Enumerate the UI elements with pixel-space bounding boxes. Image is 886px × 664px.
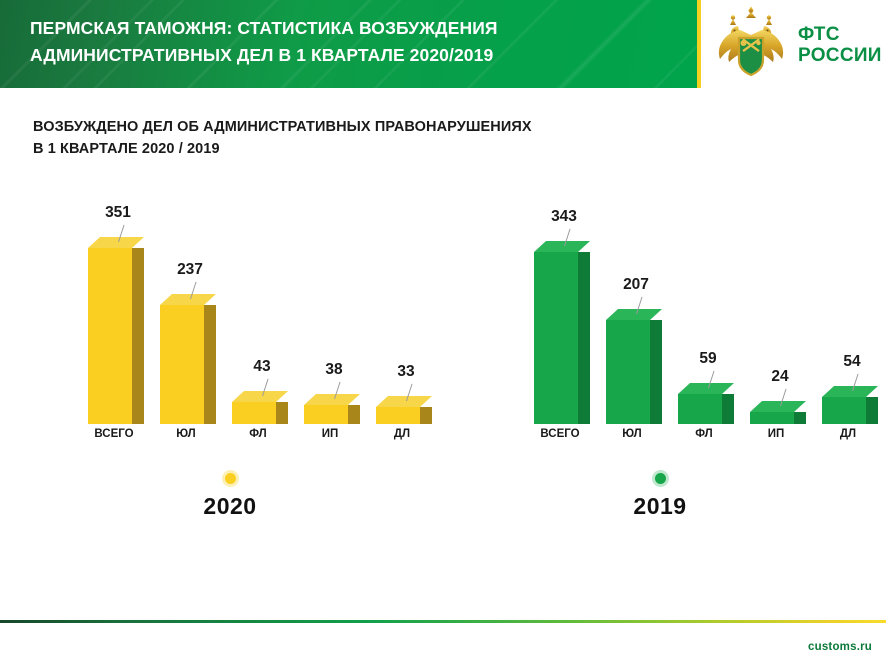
category-label-дл: ДЛ [394, 428, 410, 440]
bar-front-face [750, 412, 794, 424]
bar-front-face [304, 405, 348, 424]
category-label-ип: ИП [768, 428, 785, 440]
legend-dot-2020-icon [222, 470, 239, 487]
bar-front-face [376, 407, 420, 424]
category-label-ип: ИП [322, 428, 339, 440]
bar-top-face [160, 294, 216, 305]
plot-area-2020: 351237433833 [60, 212, 420, 424]
bar-side-face [794, 412, 806, 424]
bar-side-face [722, 394, 734, 424]
bar-value-label: 207 [623, 276, 649, 294]
bar-top-face [88, 237, 144, 248]
footer-site-link[interactable]: customs.ru [808, 641, 872, 653]
bar-side-face [578, 252, 590, 424]
page-header: ПЕРМСКАЯ ТАМОЖНЯ: СТАТИСТИКА ВОЗБУЖДЕНИЯ… [0, 0, 886, 88]
legend-dot-2019-icon [652, 470, 669, 487]
bar-side-face [348, 405, 360, 424]
bar-top-face [678, 383, 734, 394]
bar-side-face [866, 397, 878, 424]
legend-year-2019: 2019 [570, 493, 750, 520]
bar-side-face [276, 402, 288, 424]
bar-всего [88, 248, 132, 424]
bar-top-face [376, 396, 432, 407]
double-headed-eagle-icon [712, 6, 790, 84]
bar-chart-2020: 351237433833 ВСЕГОЮЛФЛИПДЛ [60, 196, 420, 446]
logo-text-line2: РОССИИ [798, 45, 882, 66]
bar-top-face [606, 309, 662, 320]
bar-value-label: 59 [699, 350, 716, 368]
bar-юл [160, 305, 204, 424]
bar-top-face [534, 241, 590, 252]
bar-всего [534, 252, 578, 424]
bar-ип [304, 405, 348, 424]
category-label-юл: ЮЛ [176, 428, 196, 440]
series-legend-2020: 2020 [140, 470, 320, 520]
page-title: ПЕРМСКАЯ ТАМОЖНЯ: СТАТИСТИКА ВОЗБУЖДЕНИЯ… [30, 15, 670, 69]
legend-year-2020: 2020 [140, 493, 320, 520]
bar-value-label: 33 [397, 363, 414, 381]
bar-фл [678, 394, 722, 424]
bar-value-label: 24 [771, 368, 788, 386]
bar-side-face [650, 320, 662, 424]
series-legend-2019: 2019 [570, 470, 750, 520]
bar-front-face [232, 402, 276, 424]
logo-text-line1: ФТС [798, 24, 840, 45]
chart-heading: ВОЗБУЖДЕНО ДЕЛ ОБ АДМИНИСТРАТИВНЫХ ПРАВО… [33, 116, 733, 160]
bar-front-face [88, 248, 132, 424]
category-axis-2019: ВСЕГОЮЛФЛИПДЛ [506, 424, 866, 446]
bar-value-label: 351 [105, 204, 131, 222]
bar-value-label: 43 [253, 358, 270, 376]
bar-top-face [750, 401, 806, 412]
slide-page: ПЕРМСКАЯ ТАМОЖНЯ: СТАТИСТИКА ВОЗБУЖДЕНИЯ… [0, 0, 886, 664]
bar-top-face [822, 386, 878, 397]
bar-front-face [678, 394, 722, 424]
fts-logo: ФТС РОССИИ [712, 4, 882, 86]
bar-value-label: 237 [177, 261, 203, 279]
bar-side-face [204, 305, 216, 424]
bar-value-label: 54 [843, 353, 860, 371]
bar-front-face [606, 320, 650, 424]
bar-юл [606, 320, 650, 424]
plot-area-2019: 343207592454 [506, 212, 866, 424]
category-label-юл: ЮЛ [622, 428, 642, 440]
category-label-фл: ФЛ [695, 428, 712, 440]
bar-дл [376, 407, 420, 424]
logo-text: ФТС РОССИИ [798, 24, 882, 66]
bar-value-label: 38 [325, 361, 342, 379]
category-label-всего: ВСЕГО [94, 428, 133, 440]
category-label-всего: ВСЕГО [540, 428, 579, 440]
category-axis-2020: ВСЕГОЮЛФЛИПДЛ [60, 424, 420, 446]
bar-top-face [232, 391, 288, 402]
bar-фл [232, 402, 276, 424]
bar-side-face [420, 407, 432, 424]
bar-front-face [534, 252, 578, 424]
category-label-дл: ДЛ [840, 428, 856, 440]
bar-top-face [304, 394, 360, 405]
bar-front-face [160, 305, 204, 424]
bar-chart-2019: 343207592454 ВСЕГОЮЛФЛИПДЛ [506, 196, 866, 446]
bar-дл [822, 397, 866, 424]
bar-ип [750, 412, 794, 424]
bar-value-label: 343 [551, 208, 577, 226]
bar-front-face [822, 397, 866, 424]
category-label-фл: ФЛ [249, 428, 266, 440]
footer-gradient-divider [0, 620, 886, 623]
bar-side-face [132, 248, 144, 424]
header-yellow-accent [697, 0, 701, 88]
